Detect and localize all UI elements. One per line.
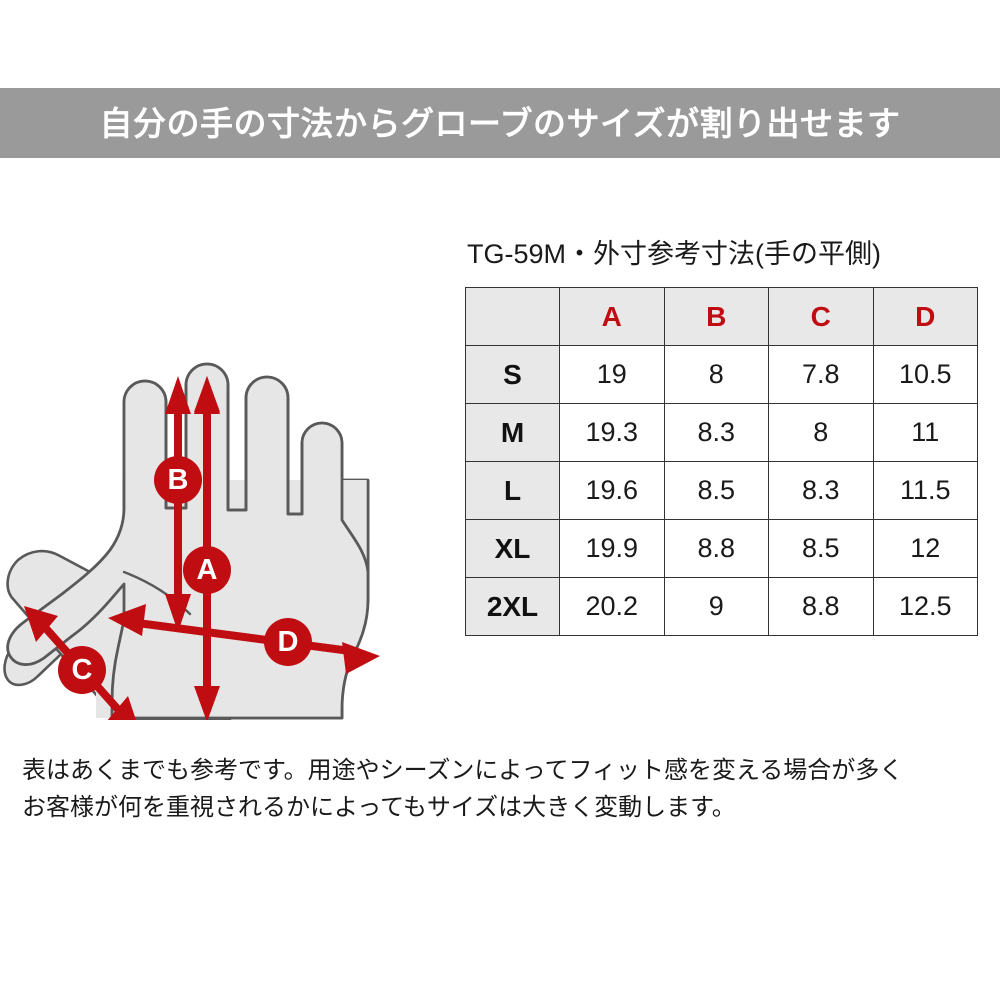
header-banner: 自分の手の寸法からグローブのサイズが割り出せます [0, 88, 1000, 158]
cell-l-b: 8.5 [664, 462, 769, 520]
cell-s-b: 8 [664, 346, 769, 404]
size-table-panel: TG-59M・外寸参考寸法(手の平側) A B C D S 19 8 7.8 1… [465, 232, 980, 636]
column-header-c: C [769, 288, 874, 346]
cell-2xl-d: 12.5 [873, 578, 978, 636]
row-header-xl: XL [466, 520, 560, 578]
column-header-a: A [560, 288, 665, 346]
footnote-line-1: 表はあくまでも参考です。用途やシーズンによってフィット感を変える場合が多く [22, 752, 982, 789]
table-row: 2XL 20.2 9 8.8 12.5 [466, 578, 978, 636]
row-header-l: L [466, 462, 560, 520]
cell-xl-c: 8.5 [769, 520, 874, 578]
table-corner-cell [466, 288, 560, 346]
table-row: L 19.6 8.5 8.3 11.5 [466, 462, 978, 520]
cell-m-c: 8 [769, 404, 874, 462]
cell-s-a: 19 [560, 346, 665, 404]
marker-d: D [264, 618, 312, 666]
table-row: S 19 8 7.8 10.5 [466, 346, 978, 404]
size-table-title: TG-59M・外寸参考寸法(手の平側) [467, 232, 980, 271]
row-header-m: M [466, 404, 560, 462]
cell-2xl-a: 20.2 [560, 578, 665, 636]
marker-b: B [154, 456, 202, 504]
cell-xl-d: 12 [873, 520, 978, 578]
cell-xl-b: 8.8 [664, 520, 769, 578]
cell-s-c: 7.8 [769, 346, 874, 404]
svg-text:B: B [168, 464, 189, 496]
column-header-b: B [664, 288, 769, 346]
cell-l-c: 8.3 [769, 462, 874, 520]
cell-l-d: 11.5 [873, 462, 978, 520]
page-root: 自分の手の寸法からグローブのサイズが割り出せます [0, 0, 1000, 1000]
banner-title: 自分の手の寸法からグローブのサイズが割り出せます [99, 107, 900, 140]
cell-m-a: 19.3 [560, 404, 665, 462]
size-table: A B C D S 19 8 7.8 10.5 M 19.3 8.3 [465, 287, 978, 636]
table-header-row: A B C D [466, 288, 978, 346]
row-header-2xl: 2XL [466, 578, 560, 636]
row-header-s: S [466, 346, 560, 404]
marker-a-label: A [183, 546, 231, 594]
hand-measurement-diagram: B D C A [0, 180, 440, 720]
cell-m-b: 8.3 [664, 404, 769, 462]
footnote: 表はあくまでも参考です。用途やシーズンによってフィット感を変える場合が多く お客… [22, 752, 982, 826]
cell-xl-a: 19.9 [560, 520, 665, 578]
cell-l-a: 19.6 [560, 462, 665, 520]
cell-2xl-b: 9 [664, 578, 769, 636]
cell-m-d: 11 [873, 404, 978, 462]
column-header-d: D [873, 288, 978, 346]
table-row: M 19.3 8.3 8 11 [466, 404, 978, 462]
marker-c: C [58, 646, 106, 694]
footnote-line-2: お客様が何を重視されるかによってもサイズは大きく変動します。 [22, 789, 982, 826]
cell-2xl-c: 8.8 [769, 578, 874, 636]
table-row: XL 19.9 8.8 8.5 12 [466, 520, 978, 578]
svg-text:A: A [197, 554, 218, 586]
cell-s-d: 10.5 [873, 346, 978, 404]
svg-text:D: D [278, 626, 299, 658]
svg-text:C: C [72, 654, 93, 686]
